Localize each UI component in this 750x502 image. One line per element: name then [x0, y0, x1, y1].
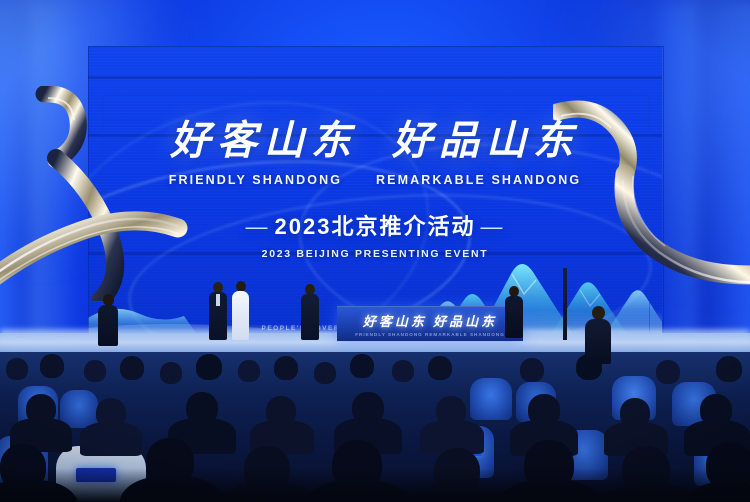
audience-seating-area [0, 352, 750, 502]
audience-head [120, 356, 144, 380]
audience-head [656, 360, 680, 384]
stage-person-host-female [230, 281, 252, 340]
stage-person-guest-foreground [585, 306, 611, 364]
person-shirt [216, 294, 220, 306]
stage-person-staff-left [96, 294, 120, 346]
audience-head [40, 354, 64, 378]
audience-head [428, 356, 452, 380]
microphone-stand [563, 268, 567, 340]
screen-frame-inner [102, 95, 650, 337]
stage-person-speaker [299, 284, 321, 340]
audience-head [520, 358, 544, 382]
audience-head [350, 354, 374, 378]
stage-person-staff-right [504, 286, 525, 338]
audience-head [274, 356, 298, 380]
podium-sign-cn: 好客山东 好品山东 [363, 311, 497, 330]
podium-sign: 好客山东 好品山东 FRIENDLY SHANDONG REMARKABLE S… [337, 306, 523, 341]
audience-head [238, 360, 260, 382]
audience-head [314, 362, 336, 384]
stage-person-host-male [207, 282, 229, 340]
audience-head [196, 354, 222, 380]
audience-head [160, 362, 182, 384]
person-body [301, 294, 319, 340]
person-body [505, 296, 523, 338]
audience-head [84, 360, 106, 382]
event-stage-photo: 好客山东 好品山东 FRIENDLY SHANDONG REMARKABLE S… [0, 0, 750, 502]
chair-back [470, 378, 512, 420]
podium-sign-en: FRIENDLY SHANDONG REMARKABLE SHANDONG [355, 332, 505, 337]
person-body [98, 305, 118, 346]
audience-shoulders [80, 422, 142, 456]
audience-foreground-blur-band [0, 468, 750, 502]
person-head [592, 306, 605, 320]
audience-head [6, 358, 28, 380]
audience-head [716, 356, 742, 382]
person-body [585, 319, 611, 364]
audience-head [392, 360, 414, 382]
person-body [232, 291, 249, 340]
